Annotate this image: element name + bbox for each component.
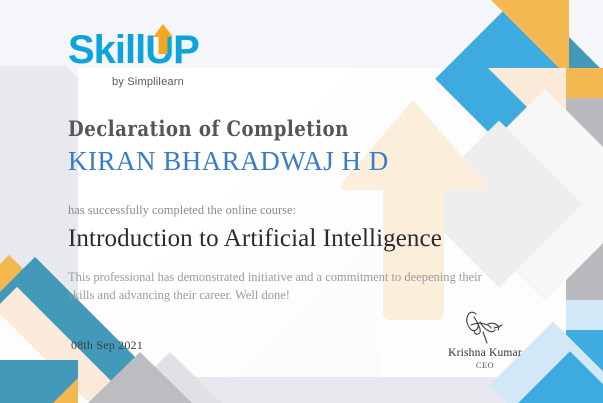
issue-date: 08th Sep 2021: [71, 338, 143, 353]
logo-up-arrow-icon: [152, 24, 174, 58]
skillup-logo: SkillUP by Simplilearn: [68, 30, 248, 88]
signature-block: Krishna Kumar CEO: [430, 308, 540, 370]
course-title: Introduction to Artificial Intelligence: [68, 225, 442, 253]
logo-wordmark: SkillUP: [68, 30, 199, 70]
signatory-role: CEO: [430, 360, 540, 370]
logo-word-primary: Skill: [68, 28, 145, 72]
signature-mark-icon: [430, 308, 540, 346]
certificate-content: SkillUP by Simplilearn Declaration of Co…: [0, 0, 603, 403]
signatory-name: Krishna Kumar: [430, 347, 540, 359]
page-title: Declaration of Completion: [68, 116, 349, 141]
logo-subtitle: by Simplilearn: [112, 76, 184, 88]
completion-subline: has successfully completed the online co…: [68, 203, 296, 218]
certificate-blurb: This professional has demonstrated initi…: [68, 268, 500, 304]
certificate-canvas: SkillUP by Simplilearn Declaration of Co…: [0, 0, 603, 403]
recipient-name: KIRAN BHARADWAJ H D: [68, 146, 389, 177]
